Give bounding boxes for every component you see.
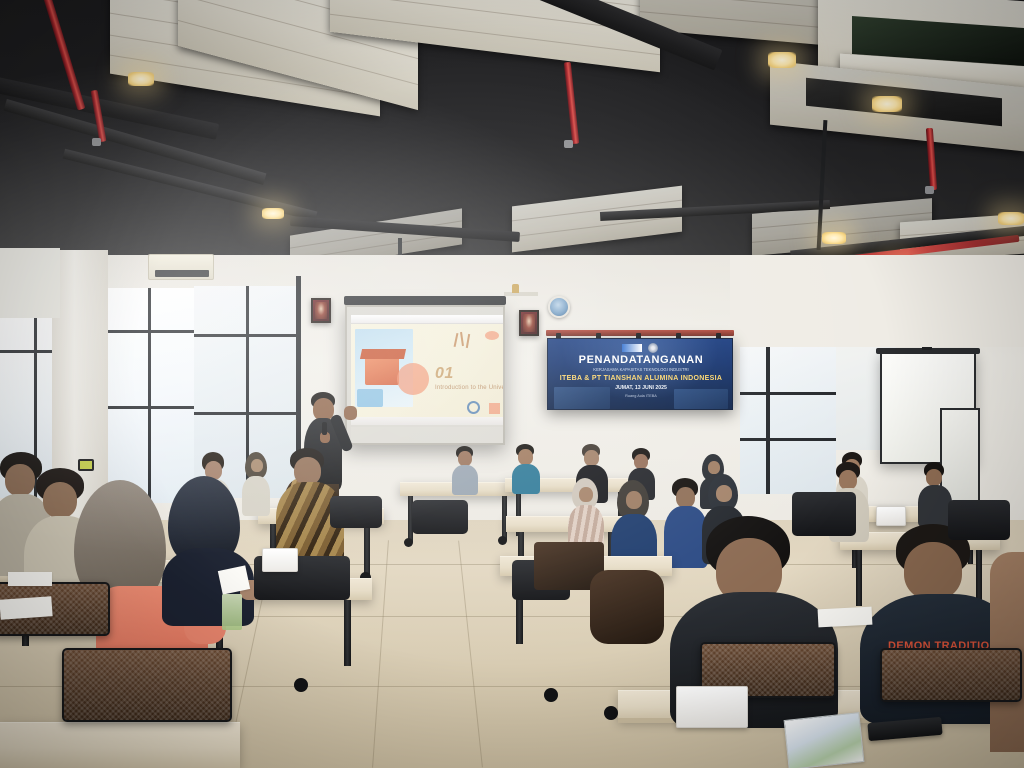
slide-decor-squiggle <box>466 334 470 348</box>
tissue-box-mid <box>262 548 298 572</box>
wall-clock <box>548 296 570 318</box>
table-caster <box>294 678 308 692</box>
drink-bottle <box>222 594 242 630</box>
window-mullion <box>740 438 836 441</box>
table-leg <box>364 524 370 578</box>
wall-shelf <box>504 292 538 296</box>
tianshan-logo <box>648 343 658 353</box>
screen-blank-area <box>351 427 503 443</box>
tissue-box <box>676 686 748 728</box>
chair-back-left-2 <box>330 496 382 528</box>
slide-decor-circle <box>397 363 429 395</box>
chair-front-right-2 <box>880 648 1022 702</box>
ceiling-light-2 <box>262 208 284 219</box>
window-mullion <box>766 344 770 494</box>
chair-far-right <box>948 500 1010 540</box>
iteba-logo <box>622 344 642 352</box>
presenter-fist <box>344 406 357 420</box>
banner-photo-strip <box>674 389 728 409</box>
ceiling-light-6 <box>998 212 1024 225</box>
wall-upper-left <box>0 248 60 318</box>
table-bottom-left <box>0 722 240 768</box>
presentation-slide: 01 Introduction to the University <box>351 315 503 425</box>
trophy <box>512 284 519 293</box>
window-mullion <box>148 288 151 503</box>
table-leg <box>976 550 982 602</box>
wall-right <box>730 255 1024 347</box>
framed-portrait-left <box>311 298 331 323</box>
window-mullion <box>108 330 194 333</box>
slide-decor-square <box>489 403 500 414</box>
window-right-partition <box>740 344 836 494</box>
ceiling-light-5 <box>822 232 846 244</box>
window-mullion <box>108 406 194 409</box>
table-caster <box>544 688 558 702</box>
table-leg <box>344 600 351 666</box>
framed-portrait-right <box>519 310 539 336</box>
chair-mid-right <box>792 492 856 536</box>
slide-decor-squiggle <box>460 332 464 346</box>
sprinkler-head-right <box>925 186 934 194</box>
projector-screen-housing <box>344 296 506 305</box>
table-caster <box>498 536 507 545</box>
window-mullion <box>0 350 52 353</box>
microphone <box>322 422 327 435</box>
slide-app-statusbar <box>351 417 503 425</box>
sprinkler-head-center <box>564 140 573 148</box>
tissue-box-right <box>876 506 906 526</box>
window-left-2 <box>108 288 194 503</box>
table-caster <box>604 706 618 720</box>
banner-organizations: ITEBA & PT TIANSHAN ALUMINA INDONESIA <box>548 375 733 382</box>
brochure <box>784 712 865 768</box>
slide-decor-squiggle <box>454 333 459 347</box>
event-banner: PENANDATANGANAN KERJASAMA KAPASITAS TEKN… <box>547 338 733 410</box>
floor-grout <box>372 540 389 768</box>
slide-decor-circle-small <box>485 331 499 340</box>
banner-title: PENANDATANGANAN <box>548 355 733 367</box>
ceiling-light-3 <box>768 52 796 68</box>
projector-screen[interactable]: 01 Introduction to the University <box>345 305 505 445</box>
air-conditioner <box>148 254 214 280</box>
slide-number: 01 <box>435 365 454 383</box>
ceiling-light-4 <box>872 96 902 112</box>
table-leg <box>856 550 862 606</box>
slide-subtitle: Introduction to the University <box>435 385 503 391</box>
raised-phone <box>78 459 94 471</box>
sprinkler-head-left <box>92 138 101 146</box>
notebook <box>8 572 52 586</box>
floor-grout <box>458 541 483 768</box>
banner-photo-strip <box>554 387 610 409</box>
banner-subtitle: KERJASAMA KAPASITAS TEKNOLOGI INDUSTRI <box>548 368 733 372</box>
slide-logo-ring <box>467 401 480 414</box>
slide-app-toolbar <box>351 315 503 324</box>
table-caster <box>404 538 413 547</box>
window-mullion <box>740 392 836 395</box>
backpack <box>590 570 664 644</box>
ceiling-light-1 <box>128 72 154 86</box>
notebook-right <box>818 607 873 628</box>
ac-vent <box>155 270 209 277</box>
classroom-photo: 01 Introduction to the University PENAND… <box>0 0 1024 768</box>
chair-front-center <box>62 648 232 722</box>
notebook <box>0 596 53 620</box>
chair-back-left <box>412 500 468 534</box>
